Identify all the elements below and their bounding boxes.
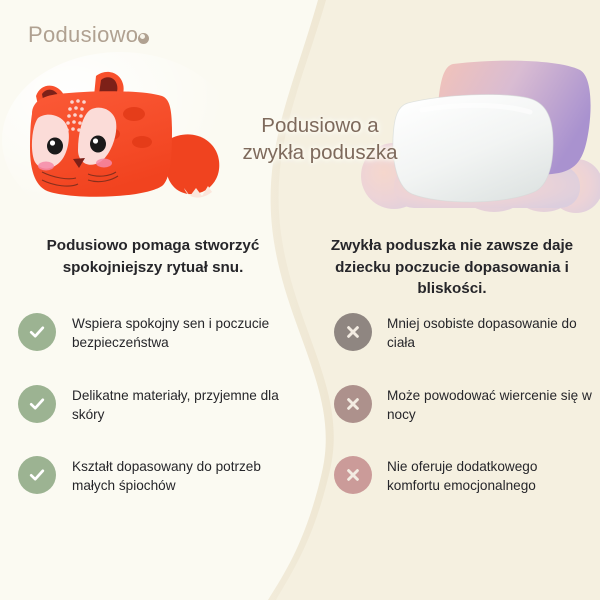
fox-pillow-image [16,62,231,222]
list-item: Nie oferuje dodatkowego komfortu emocjon… [334,455,594,496]
list-item: Kształt dopasowany do potrzeb małych śpi… [18,455,298,496]
list-item-label: Wspiera spokojny sen i poczucie bezpiecz… [72,312,298,353]
left-column-heading: Podusiowo pomaga stworzyć spokojniejszy … [8,235,298,278]
brand-logo: Podusiowo [28,22,149,48]
check-circle-icon [18,456,56,494]
check-circle-icon [18,385,56,423]
hero-title: Podusiowo a zwykła poduszka [234,112,406,167]
list-item-label: Kształt dopasowany do potrzeb małych śpi… [72,455,298,496]
cross-circle-icon [334,456,372,494]
list-item-label: Może powodować wiercenie się w nocy [387,384,594,425]
infographic-canvas: Podusiowo [0,0,600,600]
list-item: Może powodować wiercenie się w nocy [334,384,594,425]
list-item-label: Delikatne materiały, przyjemne dla skóry [72,384,298,425]
cross-circle-icon [334,313,372,351]
dot-circle-icon [138,33,149,44]
cons-list: Mniej osobiste dopasowanie do ciała Może… [334,312,594,527]
list-item: Delikatne materiały, przyjemne dla skóry [18,384,298,425]
brand-logo-text: Podusiowo [28,22,138,48]
cross-circle-icon [334,385,372,423]
right-column-heading: Zwykła poduszka nie zawsze daje dziecku … [312,235,592,300]
list-item: Wspiera spokojny sen i poczucie bezpiecz… [18,312,298,353]
check-circle-icon [18,313,56,351]
list-item: Mniej osobiste dopasowanie do ciała [334,312,594,353]
list-item-label: Nie oferuje dodatkowego komfortu emocjon… [387,455,594,496]
pros-list: Wspiera spokojny sen i poczucie bezpiecz… [18,312,298,527]
list-item-label: Mniej osobiste dopasowanie do ciała [387,312,594,353]
